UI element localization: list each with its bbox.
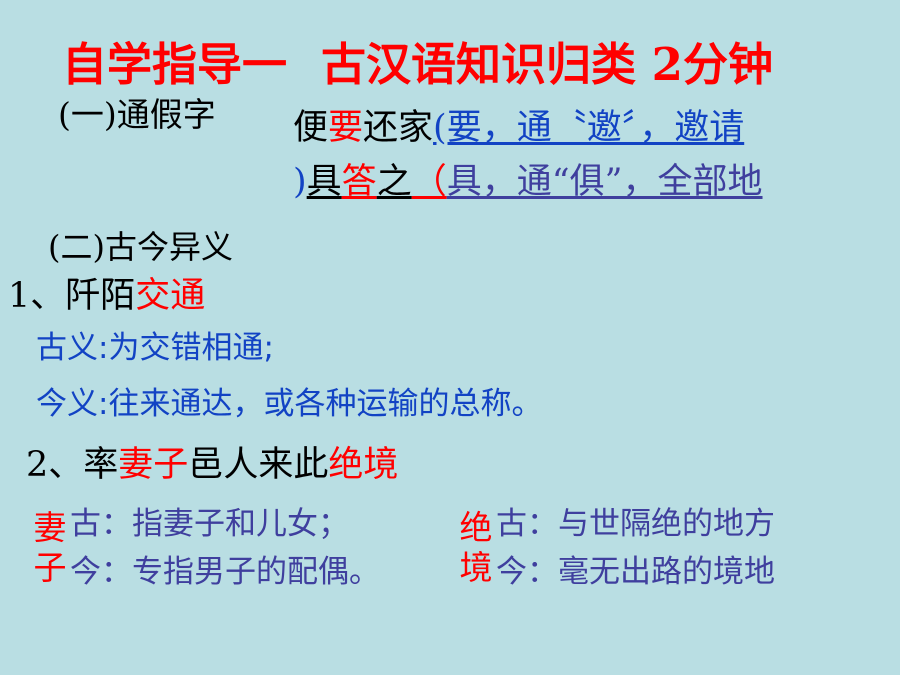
heading-gujinyiyi: (二)古今异义 (48, 222, 233, 268)
qizi-ancient-meaning: 古：指妻子和儿女； (70, 500, 380, 548)
slide-canvas: 自学指导一古汉语知识归类 2分钟 (一)通假字 便要还家(要，通〝邀〞，邀请 )… (0, 0, 900, 675)
tongjia-example-line-1: 便要还家(要，通〝邀〞，邀请 (293, 99, 744, 150)
gujin-item-2-headword: 2、率妻子邑人来此绝境 (26, 436, 398, 487)
definition-key-juejing: 绝 境 (456, 508, 496, 588)
definition-rows-juejing: 古：与世隔绝的地方 今：毫无出路的境地 (496, 500, 775, 596)
definition-block-qizi: 妻 子 古：指妻子和儿女； 今：专指男子的配偶。 (30, 500, 380, 596)
item2-word-red-1: 妻子 (118, 445, 188, 485)
key-char-zi: 子 (30, 548, 70, 588)
tj2-gloss: 具，通“俱”，全部地 (447, 162, 763, 202)
tj2-open-paren: （ (412, 162, 447, 202)
definition-key-qizi: 妻 子 (30, 508, 70, 588)
item2-mid: 邑人来此 (188, 445, 328, 485)
tj1-lead: 便 (293, 108, 328, 148)
item1-ancient-meaning: 古义:为交错相通; (36, 322, 274, 367)
qizi-modern-meaning: 今：专指男子的配偶。 (70, 548, 380, 596)
item1-word-red: 交通 (135, 276, 205, 316)
tj1-tail: 还家 (363, 108, 433, 148)
key-char-jue: 绝 (456, 508, 496, 548)
item2-number: 2、 (26, 445, 83, 485)
title-part-2: 古汉语知识归类 2分钟 (321, 38, 773, 91)
item1-word-black: 阡陌 (65, 276, 135, 316)
title-part-1: 自学指导一 (62, 38, 287, 91)
definition-block-juejing: 绝 境 古：与世隔绝的地方 今：毫无出路的境地 (456, 500, 775, 596)
item1-modern-meaning: 今义:往来通达，或各种运输的总称。 (36, 378, 542, 423)
slide-title: 自学指导一古汉语知识归类 2分钟 (62, 28, 773, 93)
heading-tongjiazi: (一)通假字 (58, 88, 216, 136)
key-char-qi: 妻 (30, 508, 70, 548)
item1-number: 1、 (8, 276, 65, 316)
item2-word-red-2: 绝境 (328, 445, 398, 485)
tj1-highlight: 要 (328, 108, 363, 148)
tongjia-example-line-2: )具答之（具，通“俱”，全部地 (293, 153, 763, 204)
juejing-ancient-meaning: 古：与世隔绝的地方 (496, 500, 775, 548)
item2-lead: 率 (83, 445, 118, 485)
definition-rows-qizi: 古：指妻子和儿女； 今：专指男子的配偶。 (70, 500, 380, 596)
gujin-item-1-headword: 1、阡陌交通 (8, 267, 205, 318)
juejing-modern-meaning: 今：毫无出路的境地 (496, 548, 775, 596)
tj1-gloss: (要，通〝邀〞，邀请 (433, 108, 744, 148)
key-char-jing: 境 (456, 548, 496, 588)
tj2-lead: 具 (307, 162, 342, 202)
tj2-gloss-close-paren: ) (293, 162, 307, 202)
tj2-tail: 之 (377, 162, 412, 202)
tj2-highlight: 答 (342, 162, 377, 202)
